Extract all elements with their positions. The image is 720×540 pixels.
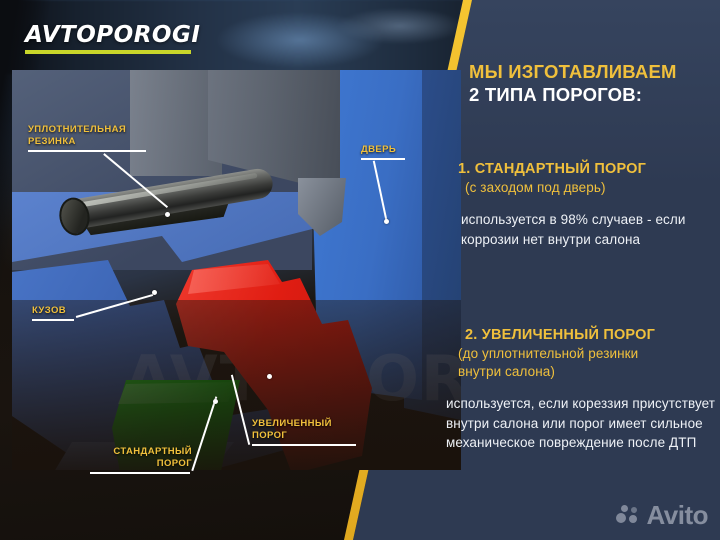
leader-dot-door: [384, 219, 389, 224]
label-body: КУЗОВ: [32, 305, 76, 321]
block2-body: используется, если кореззия присутствует…: [446, 394, 720, 453]
label-door-underline: [361, 158, 405, 160]
right-text-column: МЫ ИЗГОТАВЛИВАЕМ 2 ТИПА ПОРОГОВ: 1. СТАН…: [446, 0, 720, 540]
avito-watermark: Avito: [616, 502, 708, 528]
label-seal-line1: УПЛОТНИТЕЛЬНАЯ: [28, 124, 148, 136]
label-standard-underline: [90, 472, 190, 474]
leader-dot-body: [152, 290, 157, 295]
label-seal-underline: [28, 150, 146, 152]
label-standard-sill: СТАНДАРТНЫЙ ПОРОГ: [90, 446, 192, 474]
diagram-lower-shadow: [12, 300, 461, 470]
block2-subtitle-line2: внутри салона): [446, 363, 720, 381]
block2-title: 2. УВЕЛИЧЕННЫЙ ПОРОГ: [446, 326, 720, 345]
panel-heading-line2: 2 ТИПА ПОРОГОВ:: [469, 83, 719, 106]
panel-heading: МЫ ИЗГОТАВЛИВАЕМ 2 ТИПА ПОРОГОВ:: [469, 60, 719, 106]
poster-canvas: AVTOPOROGI AVTOPOROGI УПЛОТНИТЕЛЬНАЯ РЕЗ…: [0, 0, 720, 540]
block1-subtitle: (с заходом под дверь): [446, 179, 720, 197]
brand-logo-underline: [25, 50, 191, 54]
label-standard-line2: ПОРОГ: [90, 458, 192, 470]
label-enlarged-underline: [252, 444, 356, 446]
label-standard-line1: СТАНДАРТНЫЙ: [90, 446, 192, 458]
label-door: ДВЕРЬ: [361, 144, 407, 160]
panel-heading-line1: МЫ ИЗГОТАВЛИВАЕМ: [469, 60, 719, 83]
block2-subtitle-line1: (до уплотнительной резинки: [446, 345, 720, 363]
brand-logo-text: AVTOPOROGI: [25, 22, 200, 48]
avito-wordmark: Avito: [646, 502, 708, 528]
leader-dot-enlarged: [267, 374, 272, 379]
avito-dots-icon: [616, 505, 642, 525]
label-enlarged-sill: УВЕЛИЧЕННЫЙ ПОРОГ: [252, 418, 358, 446]
leader-dot-standard: [213, 399, 218, 404]
block1-title: 1. СТАНДАРТНЫЙ ПОРОГ: [446, 160, 720, 179]
label-body-line1: КУЗОВ: [32, 305, 76, 317]
label-enlarged-line1: УВЕЛИЧЕННЫЙ: [252, 418, 358, 430]
brand-logo: AVTOPOROGI: [25, 22, 200, 54]
label-seal: УПЛОТНИТЕЛЬНАЯ РЕЗИНКА: [28, 124, 148, 152]
label-body-underline: [32, 319, 74, 321]
label-enlarged-line2: ПОРОГ: [252, 430, 358, 442]
block1-body: используется в 98% случаев - если корроз…: [446, 210, 720, 249]
leader-dot-seal: [165, 212, 170, 217]
sill-type-block-2: 2. УВЕЛИЧЕННЫЙ ПОРОГ (до уплотнительной …: [446, 326, 720, 453]
label-door-line1: ДВЕРЬ: [361, 144, 407, 156]
sill-type-block-1: 1. СТАНДАРТНЫЙ ПОРОГ (с заходом под двер…: [446, 160, 720, 249]
label-seal-line2: РЕЗИНКА: [28, 136, 148, 148]
